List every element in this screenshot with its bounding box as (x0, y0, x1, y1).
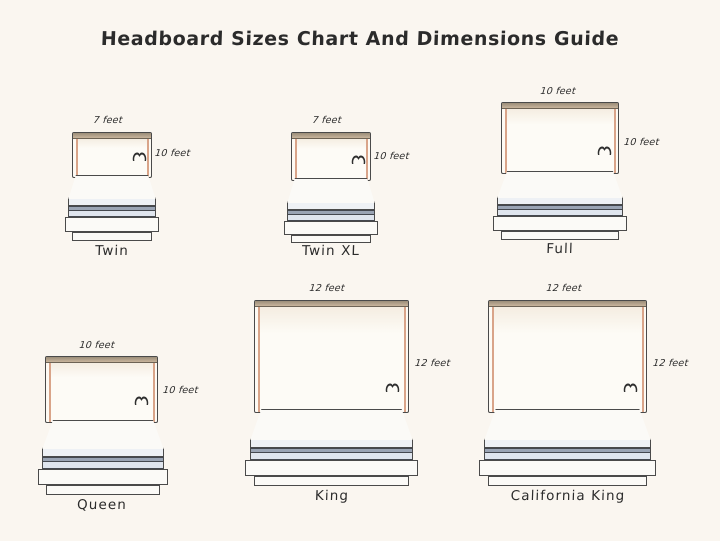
bed-figure-california-king: 12 feet 12 feet California King (463, 277, 693, 512)
headboard-california-king (488, 300, 647, 413)
bed-base (38, 469, 168, 485)
bed-label-twin-xl: Twin XL (302, 243, 361, 259)
bed-label-full: Full (546, 241, 574, 257)
dimension-label-top-twin-xl: 7 feet (312, 115, 342, 126)
dimension-label-side-twin: 10 feet (154, 148, 190, 159)
headboard-king (254, 300, 409, 413)
mattress-top (287, 178, 375, 204)
pillow-icon (350, 153, 367, 165)
headboard-full (501, 102, 619, 174)
dimension-label-side-queen: 10 feet (162, 385, 198, 396)
bed-label-twin: Twin (95, 243, 129, 259)
dimension-label-top-full: 10 feet (540, 86, 576, 97)
pillow-icon (596, 144, 613, 156)
bed-figure-twin-xl: 7 feet 10 feet Twin XL (272, 105, 422, 250)
bed-figure-king: 12 feet 12 feet King (236, 277, 436, 512)
mattress-top (497, 171, 623, 199)
page-title: Headboard Sizes Chart And Dimensions Gui… (0, 28, 720, 50)
mattress-top (42, 420, 164, 450)
bed-base (479, 460, 656, 476)
mattress-top (250, 409, 413, 441)
mattress-top (484, 409, 651, 441)
pillow-icon (622, 381, 639, 393)
bed-base (65, 217, 159, 232)
bed-figure-twin: 7 feet 10 feet Twin (55, 110, 205, 250)
bed-base (493, 216, 627, 231)
pillow-icon (384, 381, 401, 393)
dimension-label-side-king: 12 feet (414, 358, 450, 369)
pillow-icon (131, 150, 148, 162)
dimension-label-top-king: 12 feet (309, 283, 345, 294)
dimension-label-top-twin: 7 feet (93, 115, 123, 126)
bed-rail (291, 235, 371, 243)
pillow-icon (133, 394, 150, 406)
dimension-label-side-twin-xl: 10 feet (373, 151, 409, 162)
bed-base (245, 460, 418, 476)
bed-label-king: King (315, 488, 350, 504)
bed-label-queen: Queen (77, 497, 127, 513)
bed-rail (46, 485, 160, 495)
bed-base (284, 221, 378, 235)
bed-rail (501, 231, 619, 240)
bed-rail (488, 476, 647, 486)
headboard-queen (45, 356, 158, 423)
dimension-label-side-california-king: 12 feet (652, 358, 688, 369)
headboard-sizes-chart: Headboard Sizes Chart And Dimensions Gui… (0, 0, 720, 541)
bed-rail (72, 232, 152, 241)
dimension-label-top-queen: 10 feet (79, 340, 115, 351)
bed-figure-queen: 10 feet 10 feet Queen (30, 332, 220, 512)
bed-label-california-king: California King (510, 488, 625, 504)
bed-rail (254, 476, 409, 486)
dimension-label-side-full: 10 feet (623, 137, 659, 148)
mattress-top (68, 175, 156, 200)
dimension-label-top-california-king: 12 feet (546, 283, 582, 294)
bed-figure-full: 10 feet 10 feet Full (480, 78, 660, 250)
